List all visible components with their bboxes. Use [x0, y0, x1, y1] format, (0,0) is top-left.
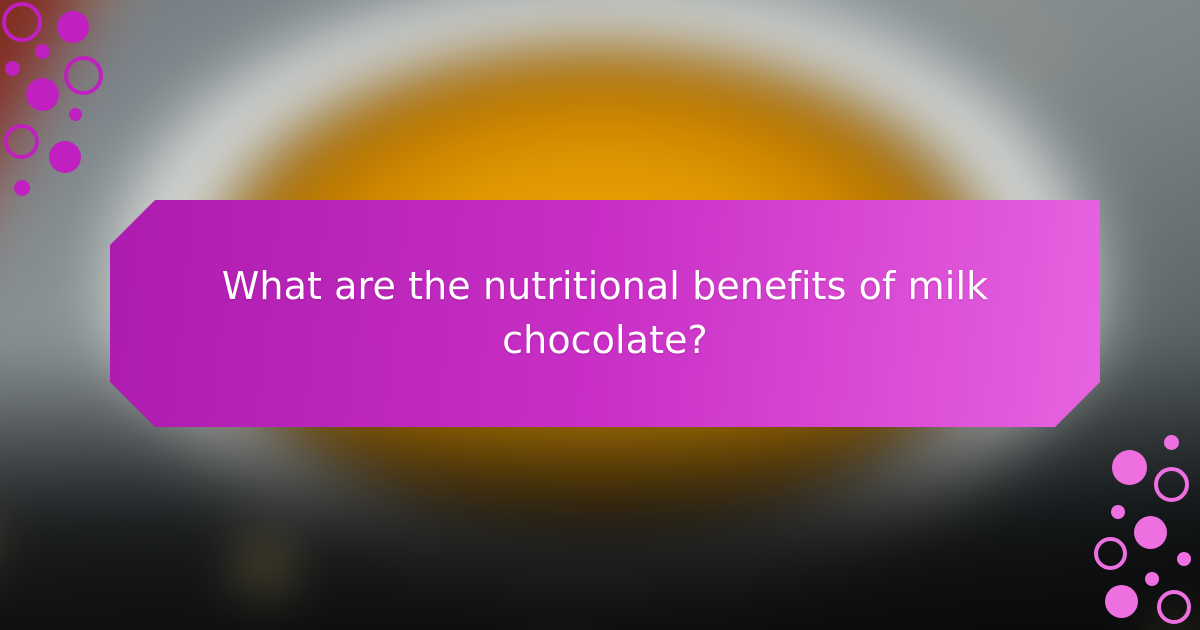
question-banner: What are the nutritional benefits of mil…: [110, 200, 1100, 427]
circle-dot: [35, 44, 50, 59]
circle-dot: [1134, 516, 1167, 549]
circle-dot: [49, 141, 81, 173]
circle-dot: [5, 61, 20, 76]
circle-dot: [69, 108, 82, 121]
circle-dot: [1105, 585, 1138, 618]
circle-outline: [1094, 537, 1127, 570]
circle-outline: [4, 124, 39, 159]
circle-outline: [1157, 590, 1191, 624]
circle-dot: [57, 11, 89, 43]
circle-dot: [1112, 450, 1147, 485]
decorative-circles-bottom-right: [1085, 430, 1200, 630]
circle-dot: [1164, 435, 1179, 450]
share-card: What are the nutritional benefits of mil…: [0, 0, 1200, 630]
circle-dot: [1145, 572, 1159, 586]
circle-dot: [14, 180, 30, 196]
decorative-circles-top-left: [0, 0, 140, 210]
circle-dot: [26, 78, 59, 111]
question-text: What are the nutritional benefits of mil…: [180, 260, 1030, 368]
circle-outline: [2, 2, 42, 42]
circle-outline: [1154, 467, 1189, 502]
circle-dot: [1177, 552, 1191, 566]
circle-dot: [1111, 505, 1125, 519]
circle-outline: [64, 56, 103, 95]
